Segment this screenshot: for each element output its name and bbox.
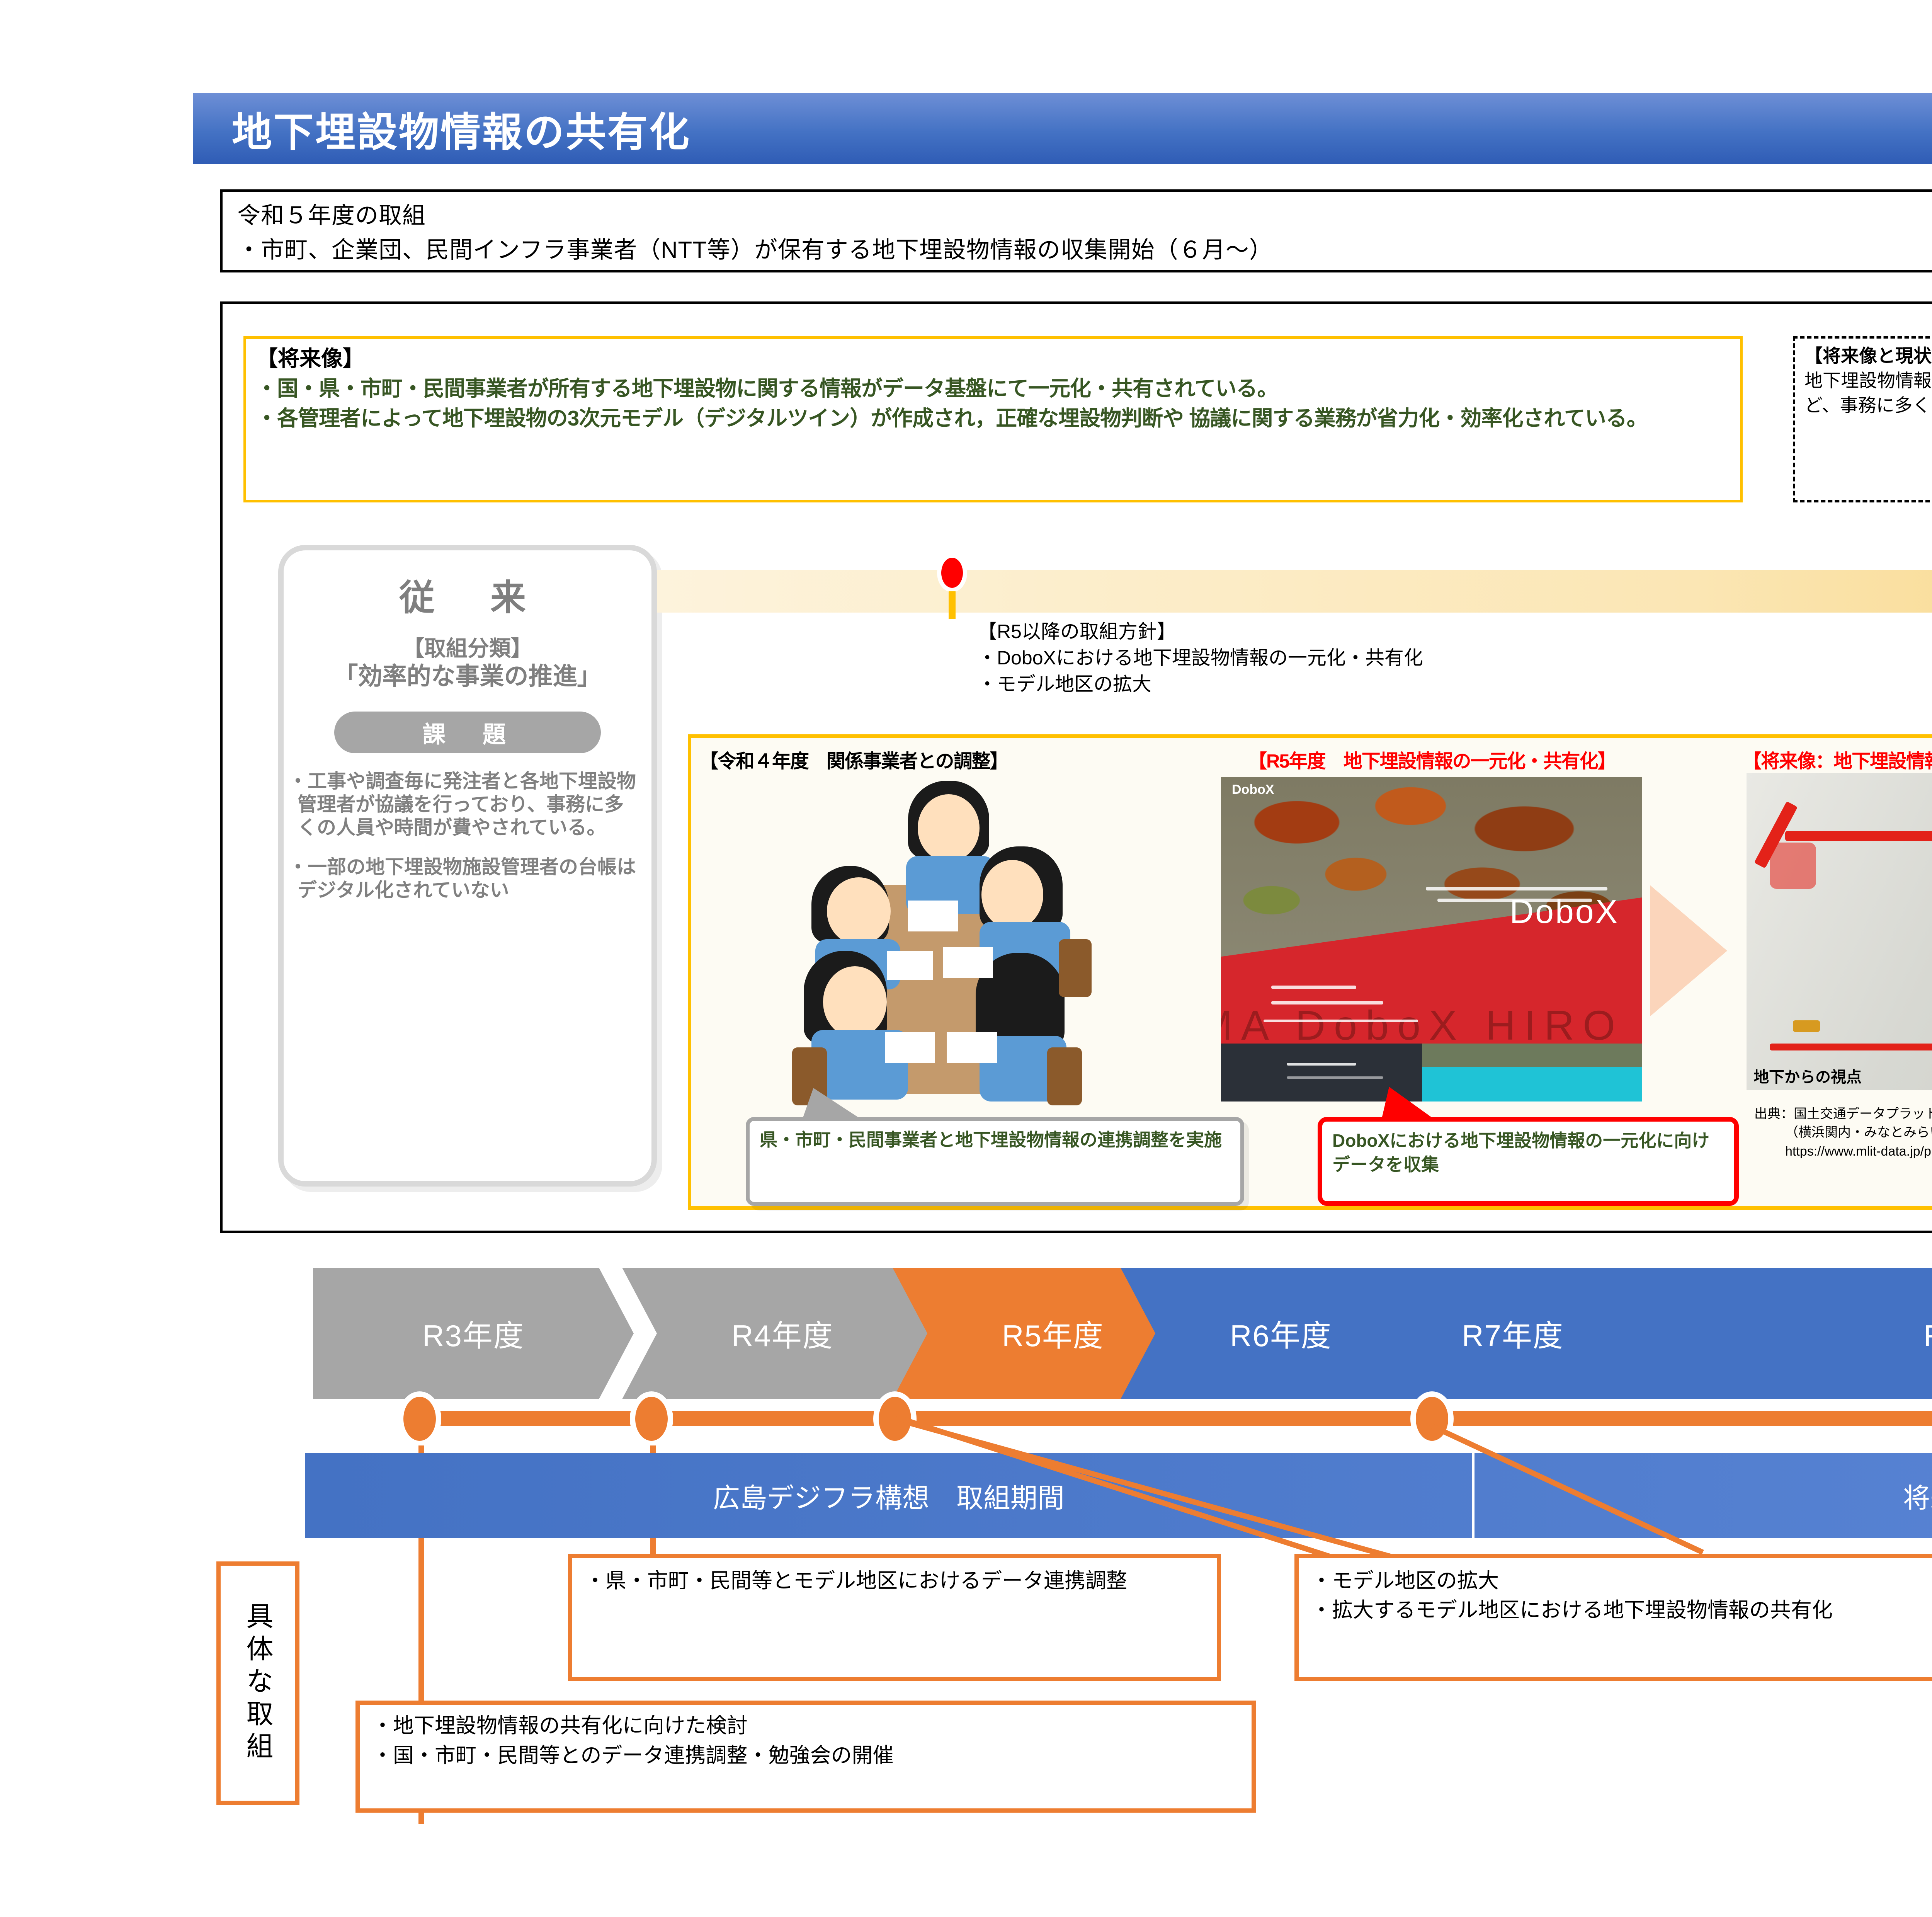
legacy-panel: 従 来 【取組分類】 「効率的な事業の推進」 課 題 ・工事や調査毎に発注者と各… [278, 545, 657, 1187]
callout-gray: 県・市町・民間事業者と地下埋設物情報の連携調整を実施 [746, 1117, 1244, 1206]
vision-box-title: 【将来像】 [256, 345, 1730, 373]
timeline-chevron-r8[interactable]: R8年度以降 [1584, 1268, 1932, 1399]
vision-timeline-arrow [657, 570, 1932, 613]
bottom-box-future-line1: ・モデル地区の拡大 [1311, 1566, 1932, 1596]
top-note-line2: ・市町、企業団、民間インフラ事業者（NTT等）が保有する地下埋設物情報の収集開始… [237, 233, 1932, 267]
dobox-logo: DoboX [1232, 782, 1274, 797]
source-line1: 出典：国土交通データプラットフォーム 地下設備の3次元モデルの構築 [1754, 1105, 1932, 1123]
issue-pill: 課 題 [334, 712, 601, 753]
vision-box: 【将来像】 ・国・県・市町・民間事業者が所有する地下埋設物に関する情報がデータ基… [243, 336, 1743, 502]
policy-note-item: ・モデル地区の拡大 [978, 671, 1634, 697]
policy-note-title: 【R5以降の取組方針】 [978, 618, 1634, 645]
timeline-chevron-r4[interactable]: R4年度 [622, 1268, 943, 1399]
underground-3d-model-image: 2.75 m 0.97 m 2.57 m 直線 2.75m 水平 2.57m 垂… [1747, 773, 1932, 1090]
r5-marker-stem [949, 591, 956, 619]
callout-tail-gray-icon [802, 1088, 864, 1121]
period-band: 広島デジフラ構想 取組期間 将来計画 [305, 1453, 1932, 1538]
timeline-chevron-r3[interactable]: R3年度 [313, 1268, 634, 1399]
callout-tail-red-icon [1381, 1087, 1435, 1120]
period-band-right-label: 将来計画 [1488, 1453, 1932, 1538]
source-citation: 出典：国土交通データプラットフォーム 地下設備の3次元モデルの構築 （横浜関内・… [1754, 1105, 1932, 1161]
top-note-box: 令和５年度の取組 ・市町、企業団、民間インフラ事業者（NTT等）が保有する地下埋… [220, 189, 1932, 272]
dobox-watermark: MA DoboX HIRO [1221, 1001, 1624, 1049]
transition-arrow-icon [1650, 885, 1727, 1016]
bottom-box-r3-line2: ・国・市町・民間等とのデータ連携調整・勉強会の開催 [372, 1741, 1239, 1771]
top-note-line1: 令和５年度の取組 [237, 199, 1932, 233]
gap-box-title: 【将来像と現状（R4）とのギャップを踏まえた課題】 [1804, 344, 1932, 368]
bottom-box-future-line2: ・拡大するモデル地区における地下埋設物情報の共有化 [1311, 1596, 1932, 1625]
vision-item: ・国・県・市町・民間事業者が所有する地下埋設物に関する情報がデータ基盤にて一元化… [256, 375, 1730, 403]
column-header-r4: 【令和４年度 関係事業者との調整】 [699, 746, 1008, 773]
legacy-issue-item: ・工事や調査毎に発注者と各地下埋設物管理者が協議を行っており、事務に多くの人員や… [294, 770, 641, 839]
band-divider [1472, 1453, 1475, 1538]
legacy-issue-item: ・一部の地下埋設物施設管理者の台帳はデジタル化されていない [294, 855, 641, 902]
bottom-box-future: ・モデル地区の拡大 ・拡大するモデル地区における地下埋設物情報の共有化 [1294, 1554, 1932, 1681]
r5-marker-dot-icon [937, 553, 967, 592]
bottom-box-r3-line1: ・地下埋設物情報の共有化に向けた検討 [372, 1711, 1239, 1741]
legacy-category-value: 「効率的な事業の推進」 [294, 662, 641, 691]
timeline-node-r7[interactable] [1410, 1391, 1454, 1446]
period-band-left-label: 広島デジフラ構想 取組期間 [305, 1453, 1472, 1538]
bottom-side-label: 具体な取組 [216, 1561, 299, 1805]
policy-note-item: ・DoboXにおける地下埋設物情報の一元化・共有化 [978, 645, 1634, 671]
view-label: 地下からの視点 [1753, 1064, 1862, 1087]
page-title: 地下埋設物情報の共有化 [232, 99, 691, 158]
gap-issue-box: 【将来像と現状（R4）とのギャップを踏まえた課題】 地下埋設物情報の共有化が進ん… [1793, 336, 1932, 502]
legacy-category-label: 【取組分類】 [294, 635, 641, 662]
callout-red: DoboXにおける地下埋設物情報の一元化に向けデータを収集 [1318, 1117, 1739, 1206]
source-line3: https://www.mlit-data.jp/platform/showca… [1754, 1142, 1932, 1161]
timeline-node-r3[interactable] [398, 1391, 441, 1446]
bottom-side-label-text: 具体な取組 [238, 1602, 277, 1764]
meeting-illustration [753, 777, 1167, 1102]
legacy-panel-title: 従 来 [294, 569, 641, 620]
source-line2: （横浜関内・みなとみらい地区） [1754, 1123, 1932, 1142]
gap-box-body: 地下埋設物情報の共有化が進んでおらず、施設毎に立会依頼や協議を行うなど、事務に多… [1804, 368, 1932, 418]
slide-header: 地下埋設物情報の共有化 ⑥-06 [193, 93, 1932, 164]
policy-note: 【R5以降の取組方針】 ・DoboXにおける地下埋設物情報の一元化・共有化 ・モ… [978, 618, 1634, 697]
timeline-node-r4[interactable] [630, 1391, 673, 1446]
bottom-box-r4: ・県・市町・民間等とモデル地区におけるデータ連携調整 [568, 1554, 1221, 1681]
sea-photo [1422, 1044, 1642, 1102]
vision-item: ・各管理者によって地下埋設物の3次元モデル（デジタルツイン）が作成され，正確な埋… [256, 405, 1730, 432]
column-header-r5: 【R5年度 地下埋設情報の一元化・共有化】 [1248, 746, 1616, 773]
bottom-box-r3: ・地下埋設物情報の共有化に向けた検討 ・国・市町・民間等とのデータ連携調整・勉強… [355, 1701, 1256, 1813]
column-header-future: 【将来像：地下埋設情報の３次元モデル化】 [1743, 746, 1932, 773]
dobox-website-screenshot: DoboX DoboX MA DoboX HIRO [1221, 777, 1642, 1102]
